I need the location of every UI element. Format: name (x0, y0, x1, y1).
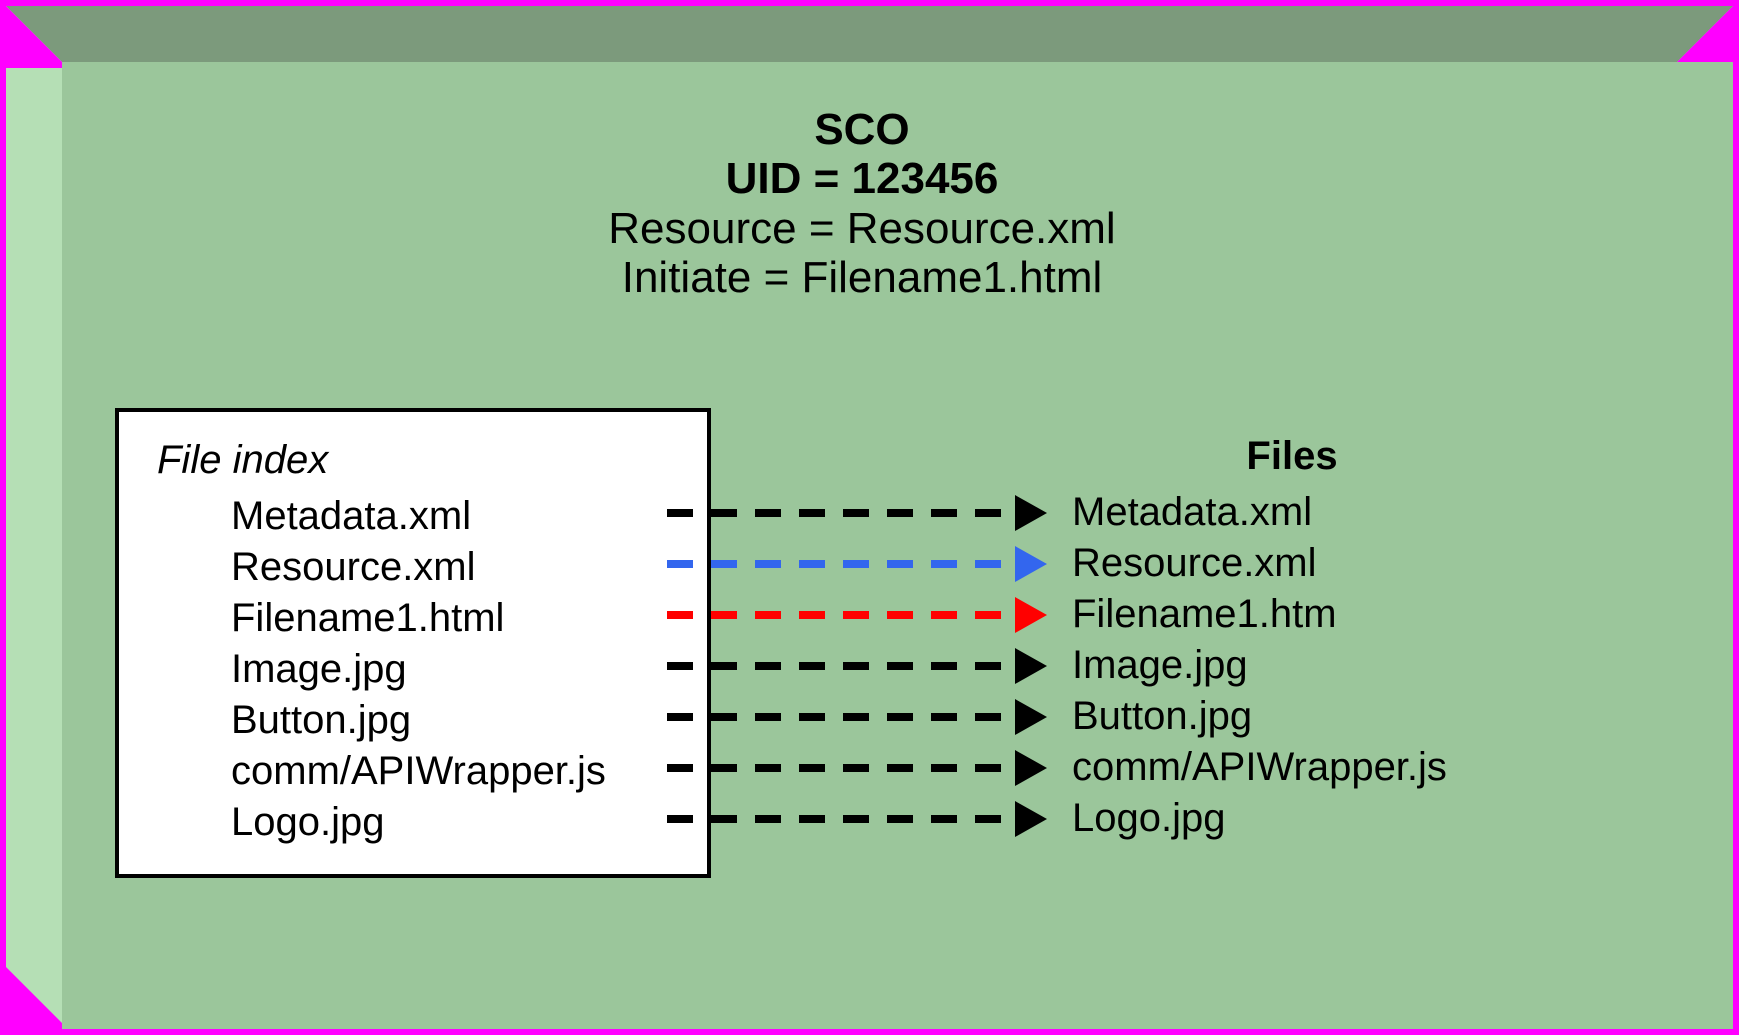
files-column-heading: Files (1072, 425, 1512, 487)
dashed-line-icon (667, 560, 1015, 568)
arrowhead-icon (1015, 495, 1047, 531)
arrowhead-icon (1015, 546, 1047, 582)
connector-group (667, 487, 1057, 844)
arrowhead-icon (1015, 597, 1047, 633)
list-item: Image.jpg (1072, 640, 1552, 691)
dashed-line-icon (667, 713, 1015, 721)
diagram-canvas: SCO UID = 123456 Resource = Resource.xml… (0, 0, 1739, 1035)
title-line-sco: SCO (62, 105, 1662, 154)
list-item: Button.jpg (231, 695, 701, 746)
title-line-uid: UID = 123456 (62, 154, 1662, 203)
list-item: Button.jpg (1072, 691, 1552, 742)
list-item: comm/APIWrapper.js (231, 746, 701, 797)
dashed-arrow-connector (667, 538, 1057, 589)
file-index-box: File index Metadata.xml Resource.xml Fil… (115, 408, 711, 878)
list-item: Resource.xml (231, 542, 701, 593)
list-item: Metadata.xml (231, 491, 701, 542)
files-column: Files Metadata.xml Resource.xml Filename… (1072, 425, 1552, 844)
dashed-arrow-connector (667, 640, 1057, 691)
dashed-arrow-connector (667, 742, 1057, 793)
dashed-line-icon (667, 662, 1015, 670)
dashed-line-icon (667, 611, 1015, 619)
list-item: Filename1.html (231, 593, 701, 644)
dashed-line-icon (667, 509, 1015, 517)
list-item: Resource.xml (1072, 538, 1552, 589)
list-item: Metadata.xml (1072, 487, 1552, 538)
dashed-arrow-connector (667, 691, 1057, 742)
dashed-line-icon (667, 764, 1015, 772)
dashed-arrow-connector (667, 487, 1057, 538)
file-index-list: Metadata.xml Resource.xml Filename1.html… (231, 491, 701, 848)
arrowhead-icon (1015, 750, 1047, 786)
dashed-arrow-connector (667, 589, 1057, 640)
list-item: Filename1.htm (1072, 589, 1552, 640)
title-line-initiate: Initiate = Filename1.html (62, 253, 1662, 302)
arrowhead-icon (1015, 648, 1047, 684)
list-item: Logo.jpg (231, 797, 701, 848)
arrowhead-icon (1015, 801, 1047, 837)
dashed-line-icon (667, 815, 1015, 823)
list-item: comm/APIWrapper.js (1072, 742, 1552, 793)
title-line-resource: Resource = Resource.xml (62, 204, 1662, 253)
file-index-heading: File index (157, 438, 328, 483)
dashed-arrow-connector (667, 793, 1057, 844)
list-item: Image.jpg (231, 644, 701, 695)
list-item: Logo.jpg (1072, 793, 1552, 844)
sco-header: SCO UID = 123456 Resource = Resource.xml… (62, 105, 1662, 302)
arrowhead-icon (1015, 699, 1047, 735)
